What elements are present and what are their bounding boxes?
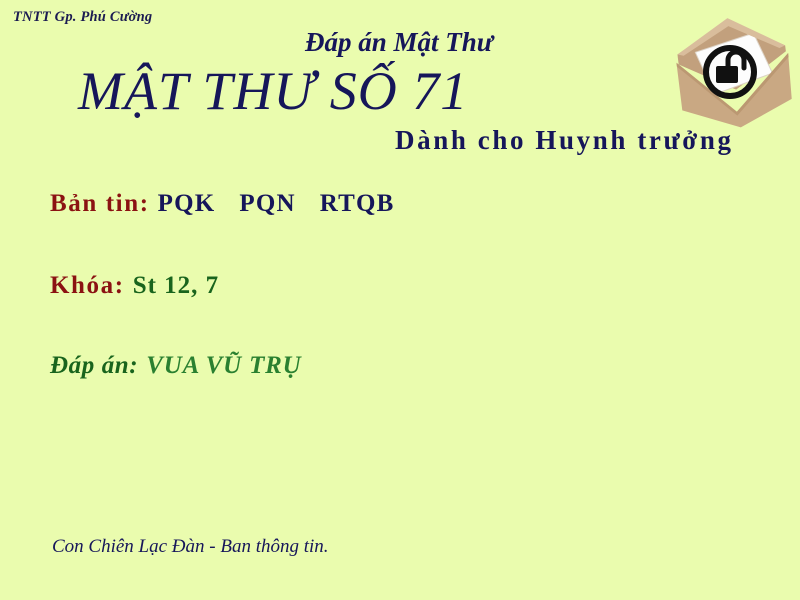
khoa-value: St 12, 7 [133, 272, 219, 299]
open-envelope-unlocked-icon [662, 12, 800, 130]
bantin-label: Bản tin: [50, 190, 150, 217]
organisation-label: TNTT Gp. Phú Cường [13, 9, 152, 26]
bantin-group-3: RTQB [320, 190, 395, 217]
slide-kicker: Đáp án Mật Thư [305, 27, 493, 58]
slide-canvas: TNTT Gp. Phú Cường Đáp án Mật Thư MẬT TH… [0, 0, 800, 600]
page-title: MẬT THƯ SỐ 71 [78, 60, 468, 122]
dapan-value: VUA VŨ TRỤ [146, 352, 301, 379]
khoa-label: Khóa: [50, 272, 125, 299]
dapan-label: Đáp án: [50, 352, 138, 379]
bantin-group-1: PQK [158, 190, 216, 217]
bantin-group-2: PQN [239, 190, 295, 217]
dapan-row: Đáp án:VUA VŨ TRỤ [50, 352, 302, 380]
footer-credit: Con Chiên Lạc Đàn - Ban thông tin. [52, 536, 329, 558]
bantin-row: Bản tin:PQKPQNRTQB [50, 190, 395, 218]
khoa-row: Khóa:St 12, 7 [50, 272, 219, 300]
